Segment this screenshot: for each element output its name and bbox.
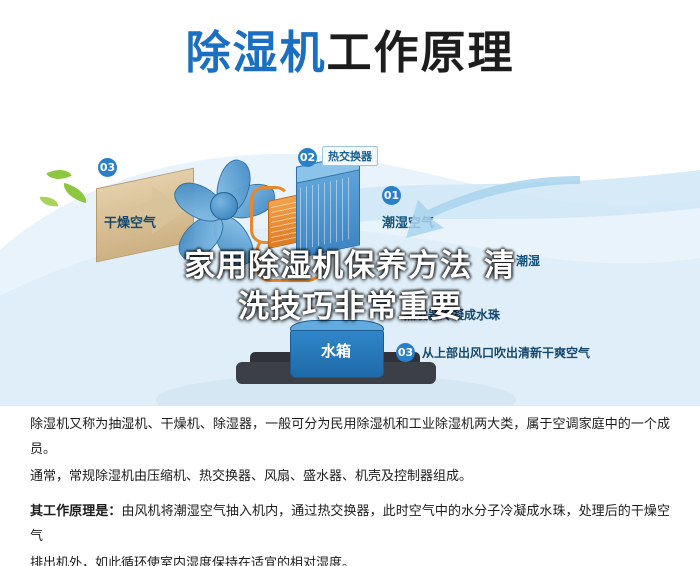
- article-principle-text: 由风机将潮湿空气抽入机内，通过热交换器，此时空气中的水分子冷凝成水珠，处理后的干…: [30, 504, 670, 544]
- heat-exchanger-fins: [300, 176, 354, 249]
- label-evaporator: 蒸发器冷凝成水珠: [404, 306, 500, 323]
- label-tank: 水箱: [290, 340, 382, 361]
- article-paragraph-4: 排出机外，如此循环使室内湿度保持在适宜的相对湿度。: [30, 551, 670, 566]
- page-title: 除湿机工作原理: [0, 24, 700, 82]
- page-root: 除湿机工作原理 03 干燥空气 02 热交换器 01 潮湿空气 潮: [0, 0, 700, 566]
- title-dark-part: 工作原理: [327, 26, 515, 79]
- article-principle-label: 其工作原理是：: [30, 504, 121, 519]
- fan-hub: [210, 192, 238, 220]
- badge-03-right: 03: [396, 343, 415, 362]
- title-blue-part: 除湿机: [185, 26, 326, 79]
- article-paragraph-3: 其工作原理是：由风机将潮湿空气抽入机内，通过热交换器，此时空气中的水分子冷凝成水…: [30, 499, 670, 549]
- label-heat-exchanger: 热交换器: [322, 146, 378, 166]
- banner-illustration: 除湿机工作原理 03 干燥空气 02 热交换器 01 潮湿空气 潮: [0, 0, 700, 406]
- badge-02: 02: [298, 148, 317, 167]
- humid-air-arrow-svg: [400, 176, 590, 286]
- label-outlet: 从上部出风口吹出清新干爽空气: [422, 344, 590, 361]
- badge-01: 01: [382, 186, 401, 205]
- paragraph-spacer: [30, 491, 670, 499]
- article-paragraph-1: 除湿机又称为抽湿机、干燥机、除湿器，一般可分为民用除湿机和工业除湿机两大类，属于…: [30, 412, 670, 462]
- label-dry-air: 干燥空气: [104, 212, 156, 231]
- article-paragraph-2: 通常，常规除湿机由压缩机、热交换器、风扇、盛水器、机壳及控制器组成。: [30, 464, 670, 489]
- badge-03-left: 03: [98, 158, 117, 177]
- article-body: 除湿机又称为抽湿机、干燥机、除湿器，一般可分为民用除湿机和工业除湿机两大类，属于…: [0, 412, 700, 566]
